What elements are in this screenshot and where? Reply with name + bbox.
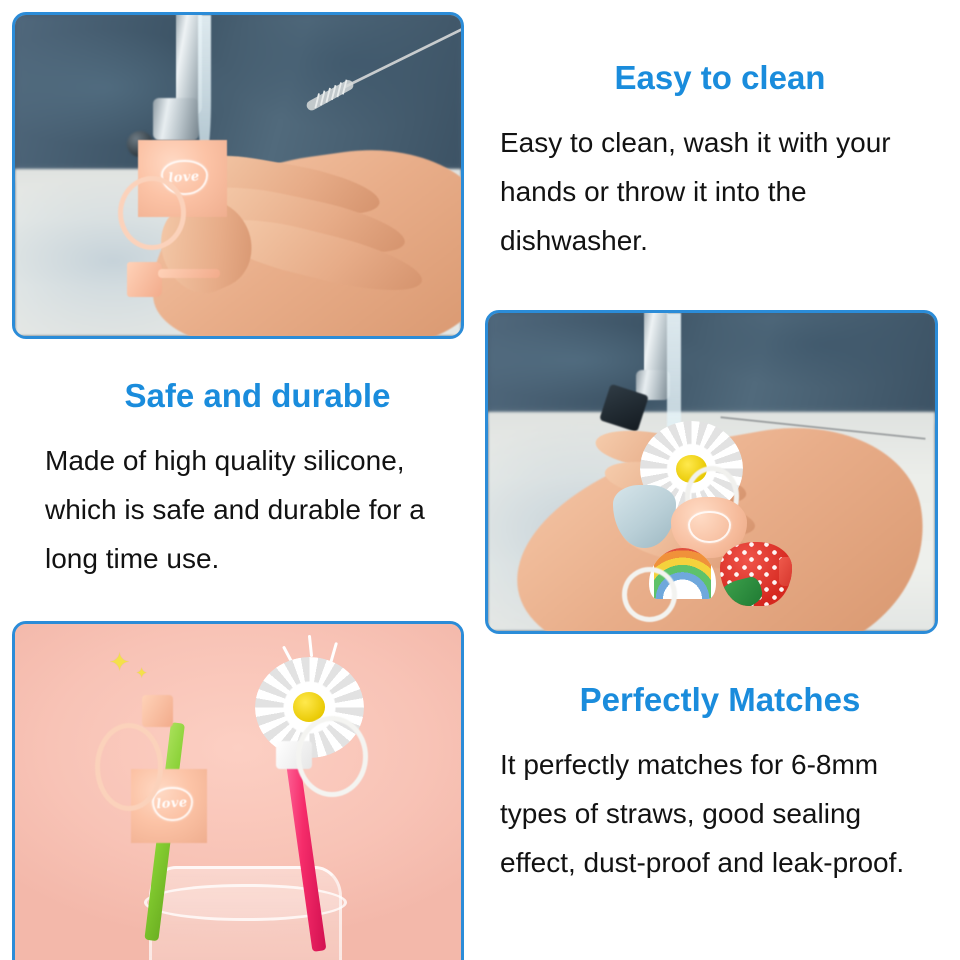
cleaning-brush-icon xyxy=(229,21,461,149)
product-feature-infographic: love xyxy=(0,0,960,960)
faucet-base-icon xyxy=(153,98,199,140)
photo-handful-of-caps xyxy=(485,310,938,634)
cap-strap xyxy=(622,567,677,622)
feature-perfectly-matches: Perfectly Matches It perfectly matches f… xyxy=(500,682,940,887)
feature-title-easy-to-clean: Easy to clean xyxy=(500,60,940,96)
strawberry-straw-cap xyxy=(720,542,792,606)
sparkle-small-icon: ✦ xyxy=(135,666,148,681)
feature-body-perfectly-matches: It perfectly matches for 6-8mm types of … xyxy=(500,740,940,887)
cap-plug-tail xyxy=(158,269,220,279)
feature-body-easy-to-clean: Easy to clean, wash it with your hands o… xyxy=(500,118,940,265)
feature-easy-to-clean: Easy to clean Easy to clean, wash it wit… xyxy=(500,60,940,265)
cap-plug-stub xyxy=(142,695,173,727)
love-emboss-label: love xyxy=(152,787,192,821)
strawberry-spout xyxy=(779,557,792,586)
love-emboss-text: love xyxy=(156,795,188,812)
sparkle-icon: ✦ xyxy=(109,649,131,675)
cap-plug-stub xyxy=(127,262,163,297)
feature-title-perfectly-matches: Perfectly Matches xyxy=(500,682,940,718)
love-emboss-label xyxy=(688,511,732,543)
feature-title-safe-and-durable: Safe and durable xyxy=(45,378,470,414)
water-stream xyxy=(198,15,211,156)
cap-strap xyxy=(95,723,163,811)
feature-safe-and-durable: Safe and durable Made of high quality si… xyxy=(45,378,470,583)
photo-straws-in-jar: ✦ ✦ love xyxy=(12,621,464,960)
tiled-wall xyxy=(488,313,935,418)
photo-washing-heart-cap: love xyxy=(12,12,464,339)
photo-canvas: ✦ ✦ love xyxy=(15,624,461,960)
cap-strap xyxy=(118,176,186,250)
feature-body-safe-and-durable: Made of high quality silicone, which is … xyxy=(45,436,470,583)
photo-canvas xyxy=(488,313,935,631)
cap-strap xyxy=(296,716,368,797)
photo-canvas: love xyxy=(15,15,461,336)
